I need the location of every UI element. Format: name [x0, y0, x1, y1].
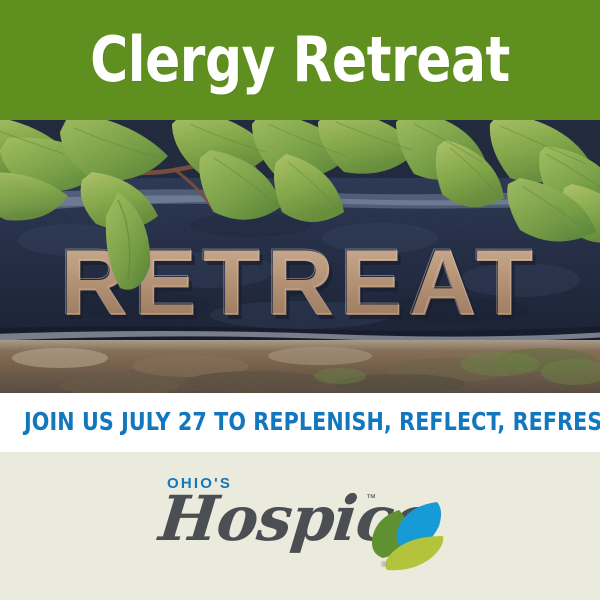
poster-canvas: Clergy Retreat	[0, 0, 600, 600]
ohios-hospice-logo: OHIO'S Hospice ™ ®	[160, 466, 450, 578]
logo-band: OHIO'S Hospice ™ ®	[0, 452, 600, 600]
retreat-sign-illustration: RETREAT RETREAT RETREAT	[0, 120, 600, 393]
tagline-text: JOIN US JULY 27 TO REPLENISH, REFLECT, R…	[24, 405, 576, 439]
tagline-band: JOIN US JULY 27 TO REPLENISH, REFLECT, R…	[0, 393, 600, 452]
page-title: Clergy Retreat	[21, 22, 579, 98]
registered-symbol: ®	[381, 561, 387, 569]
three-leaf-mark-icon	[365, 492, 449, 576]
header-band: Clergy Retreat	[0, 0, 600, 120]
retreat-sign-photo: RETREAT RETREAT RETREAT	[0, 120, 600, 393]
